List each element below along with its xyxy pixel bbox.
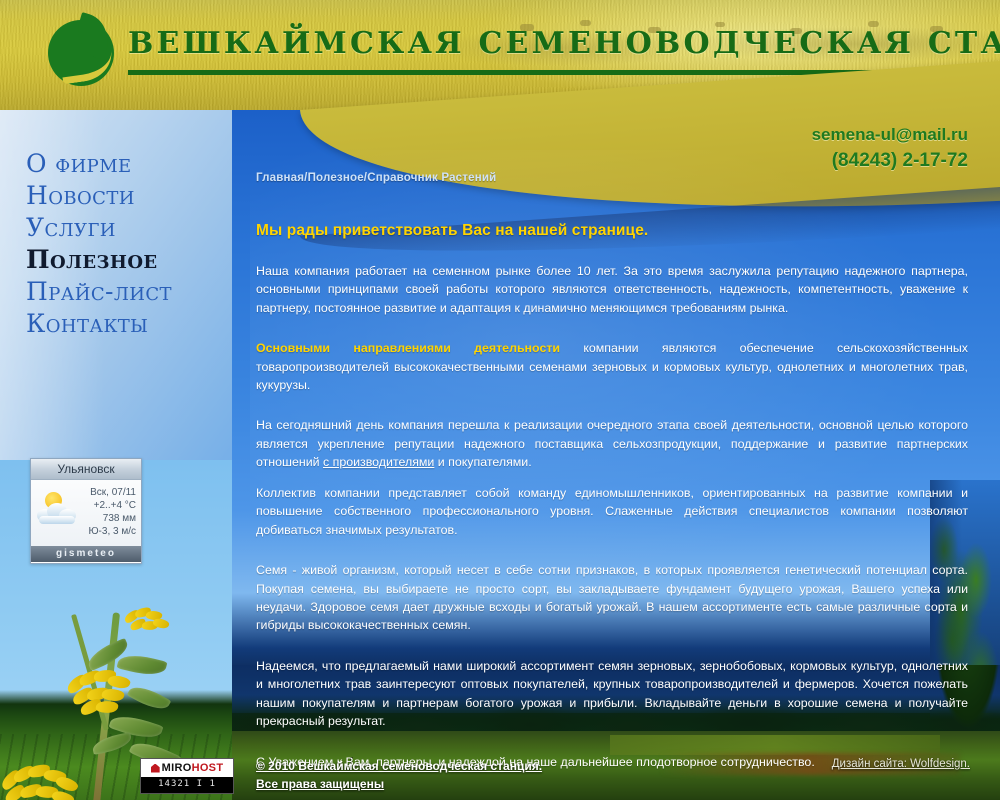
plant-leaf xyxy=(127,681,172,715)
page-root: ВЕШКАЙМСКАЯ СЕМЕНОВОДЧЕСКАЯ СТАНЦИЯ seme… xyxy=(0,0,1000,800)
producers-link[interactable]: с производителями xyxy=(323,455,434,469)
footer-design-credit[interactable]: Дизайн сайта: Wolfdesign. xyxy=(832,758,970,770)
page-title: Мы рады приветствовать Вас на нашей стра… xyxy=(256,222,968,240)
leaf-sprout-logo-icon[interactable] xyxy=(48,16,122,90)
site-title: ВЕШКАЙМСКАЯ СЕМЕНОВОДЧЕСКАЯ СТАНЦИЯ xyxy=(128,26,1000,61)
paragraph-hope: Надеемся, что предлагаемый нами широкий … xyxy=(256,657,968,731)
plant-leaf xyxy=(91,732,133,755)
nav-item-price-list[interactable]: Прайс-лист xyxy=(26,276,226,308)
nav-item-o-firme[interactable]: О фирме xyxy=(26,148,226,180)
cloud-icon xyxy=(37,503,77,523)
paragraph-intro: Наша компания работает на семенном рынке… xyxy=(256,262,968,317)
paragraph-team: Коллектив компании представляет собой ко… xyxy=(256,484,968,539)
weather-date: Вск, 07/11 xyxy=(88,486,136,499)
paragraph-seed: Семя - живой организм, который несет в с… xyxy=(256,561,968,635)
left-sidebar: О фирме Новости Услуги Полезное Прайс-ли… xyxy=(0,110,232,800)
main-navigation: О фирме Новости Услуги Полезное Прайс-ли… xyxy=(26,148,226,340)
mirohost-name-a: MIRO xyxy=(162,762,192,774)
weather-city: Ульяновск xyxy=(31,459,141,480)
nav-item-uslugi[interactable]: Услуги xyxy=(26,212,226,244)
contact-email[interactable]: semena-ul@mail.ru xyxy=(812,122,968,148)
mirohost-logo: MIROHOST xyxy=(141,759,233,777)
nav-item-novosti[interactable]: Новости xyxy=(26,180,226,212)
weather-provider[interactable]: gismeteo xyxy=(31,546,141,562)
weather-temperature: +2..+4 °C xyxy=(88,499,136,512)
logo-sweep xyxy=(57,33,115,85)
weather-body: Вск, 07/11 +2..+4 °C 738 мм Ю-3, 3 м/с xyxy=(31,480,141,546)
contact-phone: (84243) 2-17-72 xyxy=(812,148,968,174)
footer-copyright[interactable]: © 2010 Вешкаймская семеноводческая станц… xyxy=(256,757,676,775)
mirohost-counter: 14321 I 1 xyxy=(141,777,233,791)
mirohost-name-b: HOST xyxy=(192,762,224,774)
footer-copyright-block: © 2010 Вешкаймская семеноводческая станц… xyxy=(256,757,676,793)
mirohost-badge[interactable]: MIROHOST 14321 I 1 xyxy=(140,758,234,794)
nav-item-poleznoe[interactable]: Полезное xyxy=(26,244,226,276)
sun-behind-cloud-icon xyxy=(37,492,79,528)
nav-item-kontakty[interactable]: Контакты xyxy=(26,308,226,340)
paragraph-today-after: и покупателями. xyxy=(434,455,531,469)
paragraph-directions: Основными направлениями деятельности ком… xyxy=(256,339,968,394)
weather-widget[interactable]: Ульяновск Вск, 07/11 +2..+4 °C 738 мм Ю-… xyxy=(30,458,142,564)
house-icon xyxy=(151,764,160,773)
breadcrumb[interactable]: Главная/Полезное/Справочник Растений xyxy=(256,172,968,184)
weather-wind: Ю-3, 3 м/с xyxy=(88,525,136,538)
plant-leaf xyxy=(117,650,168,679)
main-content: Главная/Полезное/Справочник Растений Мы … xyxy=(256,172,968,783)
weather-readings: Вск, 07/11 +2..+4 °C 738 мм Ю-3, 3 м/с xyxy=(88,486,136,538)
contact-block: semena-ul@mail.ru (84243) 2-17-72 xyxy=(812,122,968,174)
paragraph-lead-in: Основными направлениями деятельности xyxy=(256,341,560,355)
footer-rights[interactable]: Все права защищены xyxy=(256,775,676,793)
weather-pressure: 738 мм xyxy=(88,512,136,525)
paragraph-today: На сегодняшний день компания перешла к р… xyxy=(256,416,968,471)
